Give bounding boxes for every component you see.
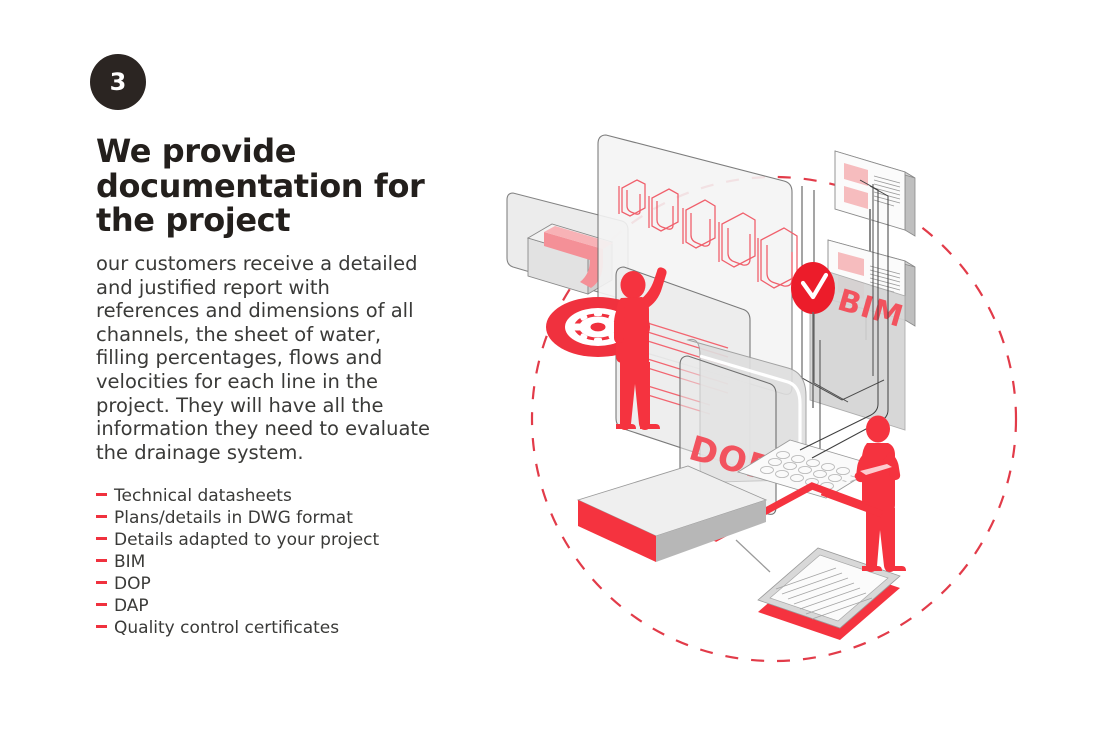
step-number: 3 <box>110 70 127 94</box>
dash-bullet-icon <box>96 625 107 628</box>
document-slab <box>758 548 900 640</box>
dash-bullet-icon <box>96 603 107 606</box>
list-item-label: Plans/details in DWG format <box>114 508 353 530</box>
page-title: We provide documentation for the project <box>96 134 446 238</box>
list-item-label: DOP <box>114 574 151 596</box>
list-item-label: BIM <box>114 552 145 574</box>
list-item: DOP <box>96 574 456 596</box>
dash-bullet-icon <box>96 559 107 562</box>
list-item-label: DAP <box>114 596 149 618</box>
pointer-dot-icon <box>855 473 862 480</box>
list-item: BIM <box>96 552 456 574</box>
list-item-label: Technical datasheets <box>114 486 292 508</box>
body-paragraph: our customers receive a detailed and jus… <box>96 252 438 464</box>
list-item: Technical datasheets <box>96 486 456 508</box>
dash-bullet-icon <box>96 537 107 540</box>
feature-list: Technical datasheets Plans/details in DW… <box>96 486 456 639</box>
list-item-label: Quality control certificates <box>114 618 339 640</box>
dash-bullet-icon <box>96 515 107 518</box>
content-column: 3 We provide documentation for the proje… <box>0 0 470 734</box>
connector-line <box>736 540 770 572</box>
person-right <box>856 416 906 573</box>
dash-bullet-icon <box>96 581 107 584</box>
list-item-label: Details adapted to your project <box>114 530 379 552</box>
list-item: Details adapted to your project <box>96 530 456 552</box>
step-number-badge: 3 <box>90 54 146 110</box>
isometric-illustration: BIM <box>470 0 1116 734</box>
list-item: DAP <box>96 596 456 618</box>
list-item: Plans/details in DWG format <box>96 508 456 530</box>
illustration-canvas: BIM <box>470 0 1116 734</box>
list-item: Quality control certificates <box>96 618 456 640</box>
dash-bullet-icon <box>96 493 107 496</box>
